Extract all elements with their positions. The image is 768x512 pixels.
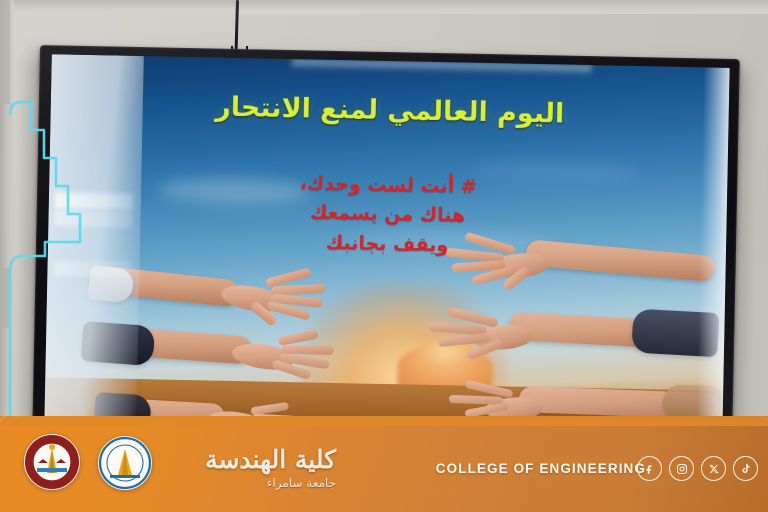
tiktok-icon[interactable]	[733, 456, 758, 481]
social-links	[637, 456, 758, 481]
footer-brand-arabic-line2: جامعة سامراء	[156, 476, 336, 490]
screen-glare-top	[292, 59, 592, 75]
screen-glare-bar-2	[54, 210, 132, 228]
university-of-samarra-seal	[24, 434, 80, 490]
wall-ceiling-seam	[0, 0, 768, 14]
x-icon[interactable]	[701, 456, 726, 481]
wall-mounted-tv: اليوم العالمي لمنع الانتحار # أنت لست وح…	[32, 45, 740, 449]
footer-english-label: COLLEGE OF ENGINEERING	[436, 461, 646, 476]
slide-title: اليوم العالمي لمنع الانتحار	[50, 88, 728, 133]
wall-panel-line-2	[0, 268, 10, 328]
tv-bezel: اليوم العالمي لمنع الانتحار # أنت لست وح…	[32, 45, 740, 449]
facebook-icon[interactable]	[637, 456, 662, 481]
screen-glare-left	[44, 54, 143, 425]
instagram-icon[interactable]	[669, 456, 694, 481]
slide-body: # أنت لست وحدك، هناك من يسمعك ويقف بجانب…	[48, 164, 728, 266]
footer-brand-arabic-line1: كلية الهندسة	[156, 447, 336, 472]
screen-glare-bar-3	[53, 260, 131, 278]
tv-screen: اليوم العالمي لمنع الانتحار # أنت لست وح…	[44, 54, 729, 437]
wall-panel-line-1	[0, 0, 10, 104]
college-seal-artwork	[99, 437, 151, 489]
screenshot-stage: اليوم العالمي لمنع الانتحار # أنت لست وح…	[0, 0, 768, 512]
screen-glare-bar-1	[55, 192, 133, 210]
college-of-engineering-seal	[98, 436, 152, 490]
branding-footer: كلية الهندسة جامعة سامراء COLLEGE OF ENG…	[0, 416, 768, 512]
university-seal-artwork	[25, 435, 79, 489]
